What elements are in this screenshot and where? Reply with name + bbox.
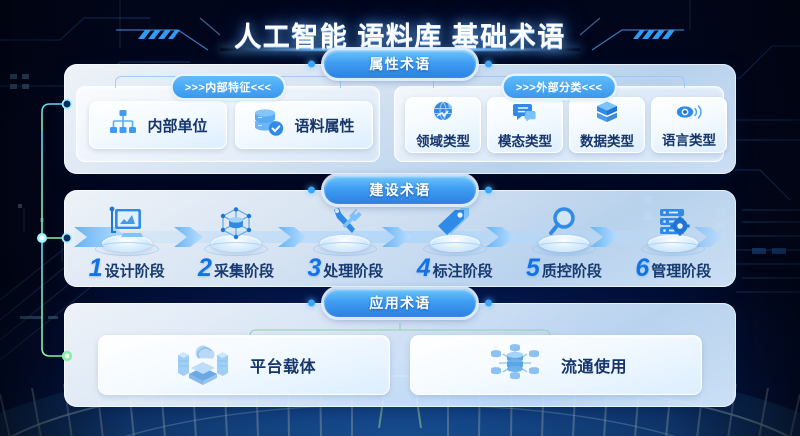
tags-label-icon [435,206,475,242]
section-attribute-terms: 属性术语 >>>内部特征<<< [64,64,736,174]
card-label: 数据类型 [580,130,634,150]
section-heading-label: 属性术语 [369,54,430,74]
stage-label: 3 处理阶段 [307,257,383,281]
group-heading-label: >>>内部特征<<< [185,79,272,95]
card-label: 流通使用 [561,353,627,377]
stage-text: 采集阶段 [214,260,274,281]
section-heading-application-terms[interactable]: 应用术语 [324,289,476,317]
page-title: 人工智能 语料库 基础术语 [234,15,566,54]
stage-label: 4 标注阶段 [417,257,493,281]
card-corpus-attribute[interactable]: 语料属性 [235,101,373,149]
stage-icon-wrap [645,206,701,252]
stage-icon-wrap [536,206,592,252]
pill-dot-right-icon [485,61,492,68]
pill-dot-right-icon [485,187,492,194]
stage-number: 2 [198,257,212,280]
stage-number: 6 [635,257,649,280]
magnifier-icon [544,206,584,242]
distributed-database-icon [485,341,545,390]
section-application-terms: 应用术语 [64,303,736,407]
stage-number: 3 [307,257,321,280]
stage-list: 1 设计阶段 [72,206,728,284]
section-heading-label: 建设术语 [369,180,430,200]
section-construction-terms: 建设术语 [64,190,736,287]
section-heading-label: 应用术语 [369,293,430,313]
stage-item[interactable]: 2 采集阶段 [181,206,290,284]
stage-icon-wrap [208,206,264,252]
stage-number: 4 [417,257,431,280]
group-heading-label: >>>外部分类<<< [516,79,603,95]
globe-icon [431,100,455,129]
pill-dot-left-icon [308,300,315,307]
stage-number: 5 [526,257,540,280]
stage-text: 处理阶段 [323,260,383,281]
stage-label: 2 采集阶段 [198,257,274,281]
stage-text: 标注阶段 [433,260,493,281]
section-heading-construction-terms[interactable]: 建设术语 [324,176,476,204]
card-label: 模态类型 [498,130,552,150]
title-right-decoration-icon [576,17,684,51]
card-circulation-usage[interactable]: 流通使用 [410,335,702,395]
card-label: 语料属性 [294,115,354,136]
card-platform-carrier[interactable]: 平台载体 [98,335,390,395]
pill-dot-right-icon [485,300,492,307]
stage-icon-wrap [317,206,373,252]
pill-dot-left-icon [308,61,315,68]
group-external-classification: >>>外部分类<<< 领域类型 [394,86,724,162]
card-modality-type[interactable]: 模态类型 [487,97,563,153]
group-heading-external-classification[interactable]: >>>外部分类<<< [504,76,615,98]
stage-item[interactable]: 6 管理阶段 [619,206,728,284]
stage-text: 管理阶段 [651,260,711,281]
data-box-icon [595,100,619,129]
eye-sound-icon [676,101,702,128]
card-data-type[interactable]: 数据类型 [569,97,645,153]
stage-label: 6 管理阶段 [635,257,711,281]
card-label: 平台载体 [250,353,316,377]
stage-item[interactable]: 3 处理阶段 [291,206,400,284]
card-label: 内部单位 [147,115,207,136]
stage-item[interactable]: 4 标注阶段 [400,206,509,284]
cloud-server-icon [172,341,234,390]
network-database-icon [216,206,256,242]
card-label: 语言类型 [662,129,716,149]
group-heading-internal-features[interactable]: >>>内部特征<<< [173,76,284,98]
stage-text: 质控阶段 [542,260,602,281]
group-internal-features: >>>内部特征<<< [76,86,380,162]
card-domain-type[interactable]: 领域类型 [405,97,481,153]
card-label: 领域类型 [416,130,470,150]
server-gear-icon [653,206,693,242]
tools-wrench-icon [325,206,365,242]
chat-bubble-icon [513,100,537,129]
title-left-decoration-icon [116,17,224,51]
card-language-type[interactable]: 语言类型 [651,97,727,153]
stage-icon-wrap [427,206,483,252]
infographic-canvas: 人工智能 语料库 基础术语 [0,0,800,436]
section-connector-line [0,0,120,436]
stage-item[interactable]: 5 质控阶段 [509,206,618,284]
database-check-icon [253,108,285,142]
stage-label: 5 质控阶段 [526,257,602,281]
pill-dot-left-icon [308,187,315,194]
section-heading-attribute-terms[interactable]: 属性术语 [324,50,476,78]
